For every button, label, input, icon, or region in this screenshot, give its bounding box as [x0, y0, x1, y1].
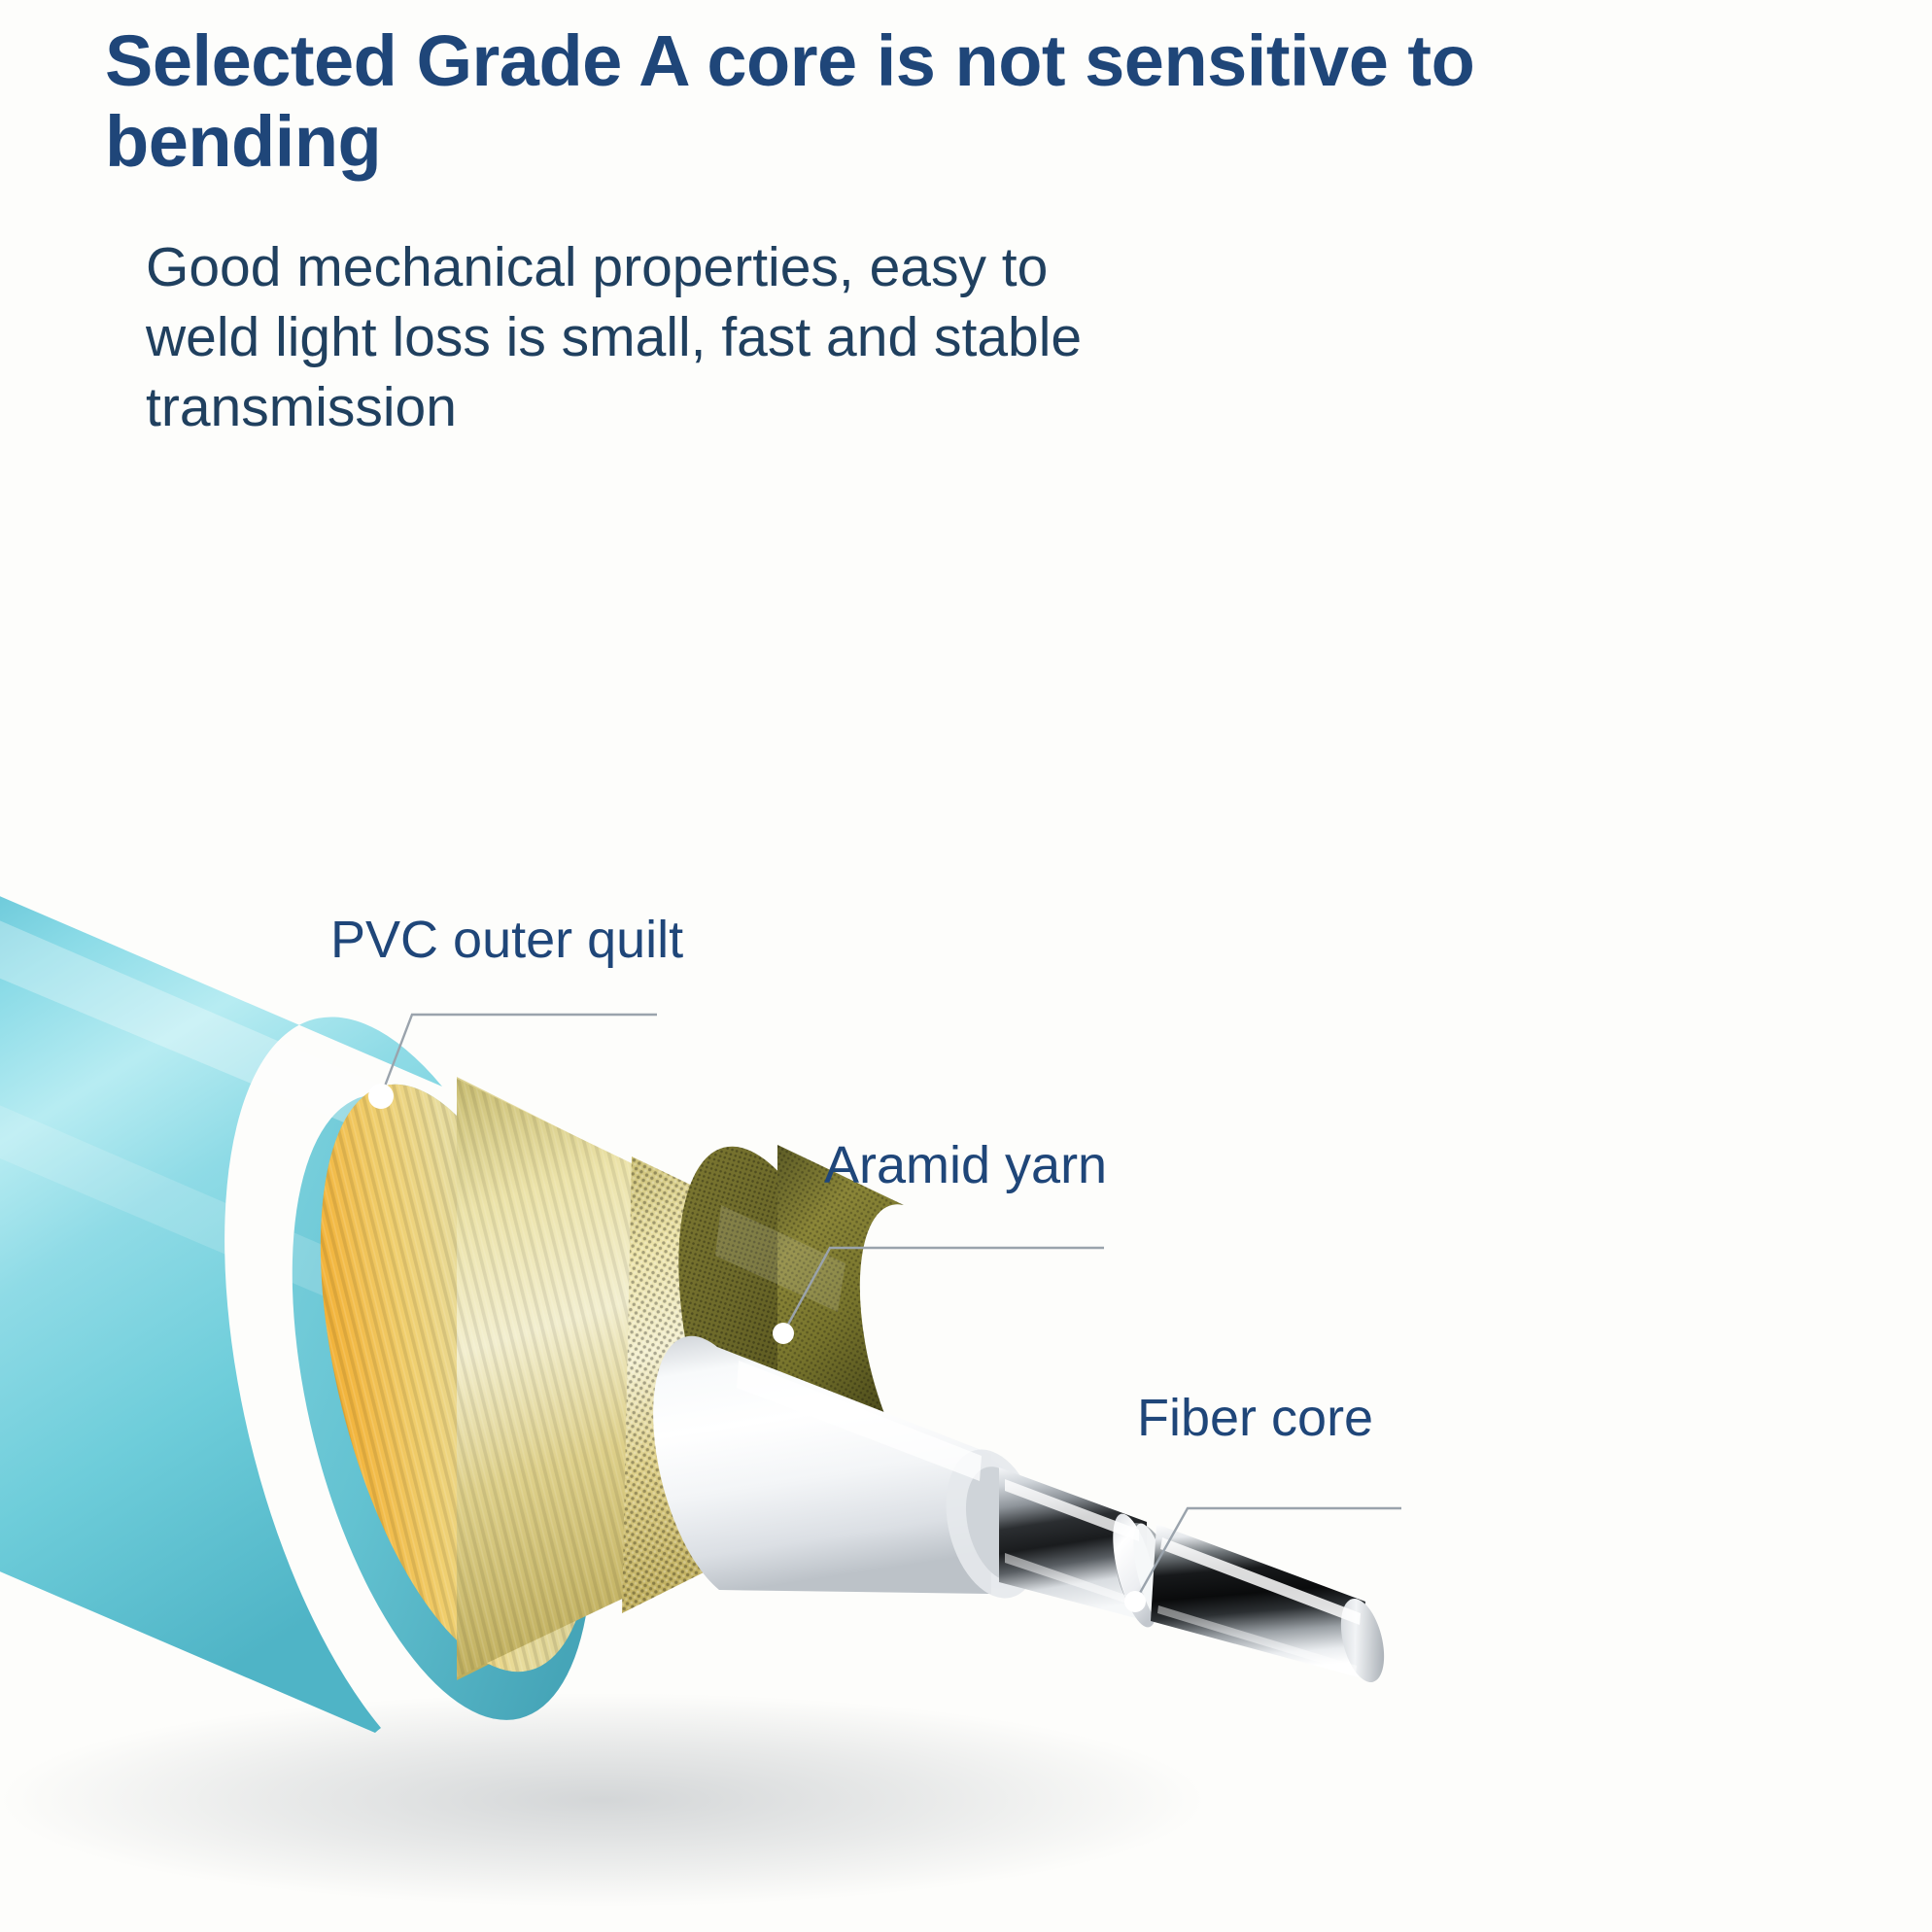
callout-leader-pvc: [381, 1015, 657, 1096]
callout-dot-fiber: [1124, 1591, 1146, 1612]
buffer-tube-end: [931, 1446, 1043, 1598]
ferrule-collar: [1104, 1509, 1166, 1631]
callout-dot-pvc: [368, 1084, 394, 1109]
aramid-yarn-layer: [269, 1041, 777, 1701]
pvc-end-ring: [236, 1064, 648, 1750]
callout-label-aramid-yarn: Aramid yarn: [824, 1135, 1107, 1195]
aramid-end-face: [269, 1057, 645, 1700]
fiber-core-rod: [1151, 1524, 1365, 1677]
callout-label-pvc-outer-quilt: PVC outer quilt: [330, 910, 683, 970]
pvc-outer-quilt-layer: [0, 880, 648, 1750]
page-title: Selected Grade A core is not sensitive t…: [105, 21, 1485, 183]
fiber-core-tip: [1333, 1594, 1392, 1686]
callout-leader-fiber: [1135, 1508, 1401, 1602]
page-subtitle: Good mechanical properties, easy to weld…: [146, 233, 1118, 442]
callout-label-fiber-core: Fiber core: [1137, 1388, 1373, 1448]
callout-leader-aramid: [783, 1248, 1104, 1333]
buffer-tube-layer: [653, 1336, 1054, 1608]
mesh-end-face: [640, 1126, 914, 1598]
callout-dot-aramid: [773, 1323, 794, 1344]
cable-shadow: [0, 1693, 1205, 1907]
diagram-canvas: Selected Grade A core is not sensitive t…: [0, 0, 1932, 1932]
aramid-mesh-layer: [640, 1126, 914, 1598]
fiber-core-layer: [999, 1467, 1392, 1687]
